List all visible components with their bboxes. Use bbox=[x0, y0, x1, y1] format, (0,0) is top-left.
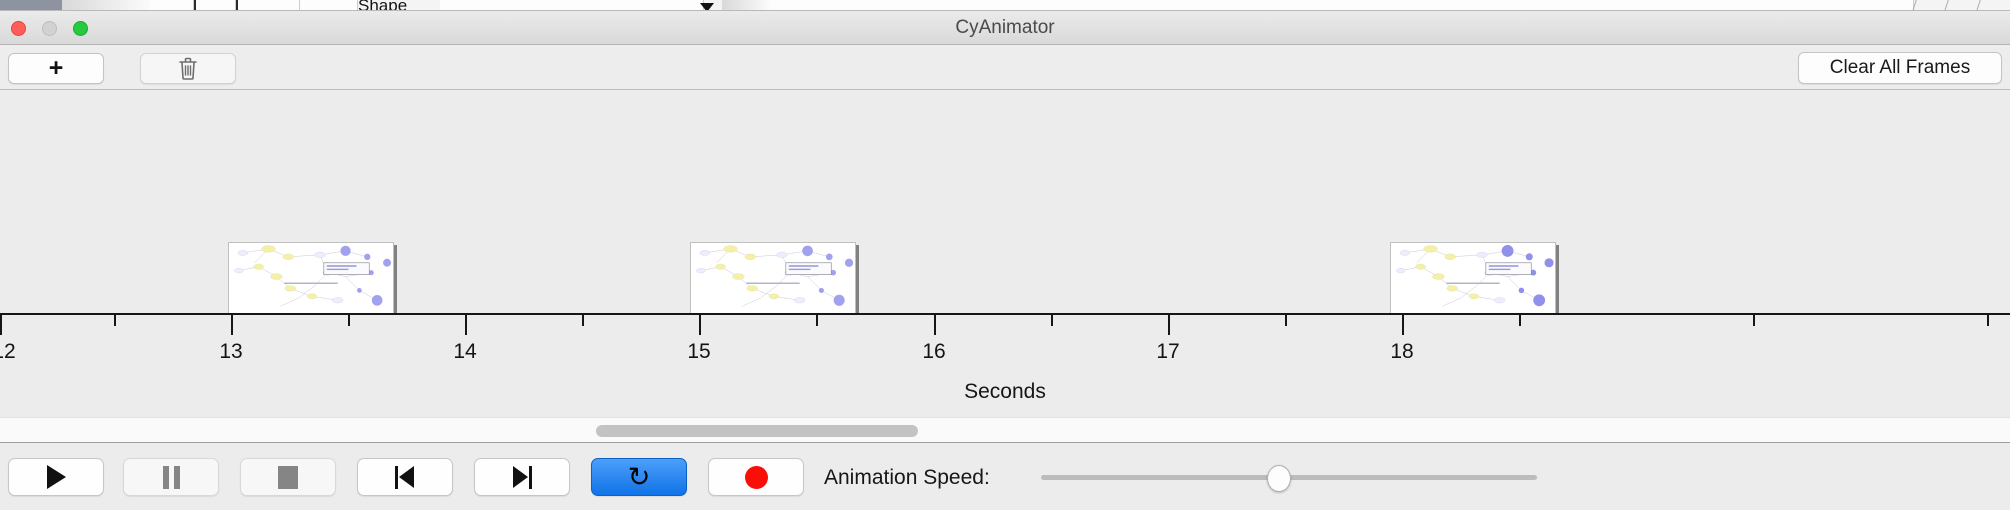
axis-tick-label: 14 bbox=[453, 340, 476, 364]
axis-tick-label: 18 bbox=[1390, 340, 1413, 364]
axis-tick-major bbox=[699, 315, 701, 335]
background-cell bbox=[62, 0, 150, 11]
timeline-frame-thumbnail[interactable] bbox=[228, 242, 394, 314]
axis-tick-minor bbox=[348, 315, 350, 326]
skip-end-icon bbox=[511, 466, 533, 489]
timeline-frame-thumbnail[interactable] bbox=[1390, 242, 1556, 314]
cyanimator-window: Shape CyAnimator + Clear All Frames bbox=[0, 0, 2010, 510]
stop-button[interactable] bbox=[240, 458, 336, 496]
skip-start-button[interactable] bbox=[357, 458, 453, 496]
axis-tick-major bbox=[1168, 315, 1170, 335]
axis-tick-major bbox=[1402, 315, 1404, 335]
loop-button[interactable]: ↻ bbox=[591, 458, 687, 496]
axis-tick-label: 17 bbox=[1156, 340, 1179, 364]
axis-tick-minor bbox=[816, 315, 818, 326]
record-icon bbox=[745, 466, 768, 489]
plus-icon: + bbox=[49, 56, 64, 81]
axis-tick-minor bbox=[1753, 315, 1755, 326]
animation-speed-slider-knob[interactable] bbox=[1267, 465, 1291, 492]
background-cell bbox=[238, 0, 300, 11]
background-cell bbox=[770, 0, 1914, 11]
axis-title: Seconds bbox=[0, 380, 2010, 404]
axis-tick-minor bbox=[1051, 315, 1053, 326]
animation-speed-label: Animation Speed: bbox=[824, 466, 990, 490]
trash-icon bbox=[178, 57, 198, 80]
play-icon bbox=[47, 465, 66, 489]
background-cell bbox=[300, 0, 358, 11]
axis-tick-minor bbox=[1519, 315, 1521, 326]
background-cell bbox=[150, 0, 194, 11]
background-window-strip: Shape bbox=[0, 0, 2010, 11]
background-divider bbox=[1976, 0, 1981, 11]
timeline-horizontal-scrollbar[interactable] bbox=[0, 417, 2010, 443]
axis-tick-major bbox=[0, 315, 2, 335]
skip-end-button[interactable] bbox=[474, 458, 570, 496]
axis-tick-label: 12 bbox=[0, 340, 16, 364]
network-graph-icon bbox=[1391, 243, 1555, 314]
timeline-frame-thumbnail[interactable] bbox=[690, 242, 856, 314]
axis-tick-minor bbox=[582, 315, 584, 326]
delete-frame-button[interactable] bbox=[140, 53, 236, 84]
background-window-label: Shape bbox=[358, 0, 407, 11]
play-button[interactable] bbox=[8, 458, 104, 496]
axis-tick-label: 15 bbox=[687, 340, 710, 364]
title-bar[interactable]: CyAnimator bbox=[0, 11, 2010, 45]
timeline-axis bbox=[0, 313, 2010, 315]
background-selected-tab bbox=[0, 0, 62, 11]
toolbar: + Clear All Frames bbox=[0, 45, 2010, 90]
background-cell bbox=[722, 0, 770, 11]
record-button[interactable] bbox=[708, 458, 804, 496]
pause-icon bbox=[163, 466, 180, 489]
background-cell bbox=[196, 0, 236, 11]
transport-bar: ↻ Animation Speed: bbox=[0, 444, 2010, 510]
background-divider bbox=[1944, 0, 1949, 11]
add-frame-button[interactable]: + bbox=[8, 53, 104, 84]
scrollbar-thumb[interactable] bbox=[596, 425, 918, 437]
background-cell bbox=[440, 0, 704, 11]
axis-tick-major bbox=[231, 315, 233, 335]
axis-tick-major bbox=[934, 315, 936, 335]
network-graph-icon bbox=[229, 243, 393, 314]
axis-tick-major bbox=[465, 315, 467, 335]
stop-icon bbox=[278, 466, 298, 489]
window-title: CyAnimator bbox=[0, 11, 2010, 45]
axis-tick-minor bbox=[1987, 315, 1989, 326]
loop-icon: ↻ bbox=[628, 464, 651, 491]
skip-start-icon bbox=[394, 466, 416, 489]
axis-tick-label: 13 bbox=[219, 340, 242, 364]
clear-all-frames-button[interactable]: Clear All Frames bbox=[1798, 52, 2002, 84]
network-graph-icon bbox=[691, 243, 855, 314]
axis-tick-minor bbox=[1285, 315, 1287, 326]
background-sort-arrow-icon bbox=[700, 3, 714, 11]
timeline-panel[interactable] bbox=[0, 90, 2010, 315]
pause-button[interactable] bbox=[123, 458, 219, 496]
clear-all-frames-label: Clear All Frames bbox=[1830, 57, 1970, 79]
axis-tick-minor bbox=[114, 315, 116, 326]
axis-tick-label: 16 bbox=[922, 340, 945, 364]
